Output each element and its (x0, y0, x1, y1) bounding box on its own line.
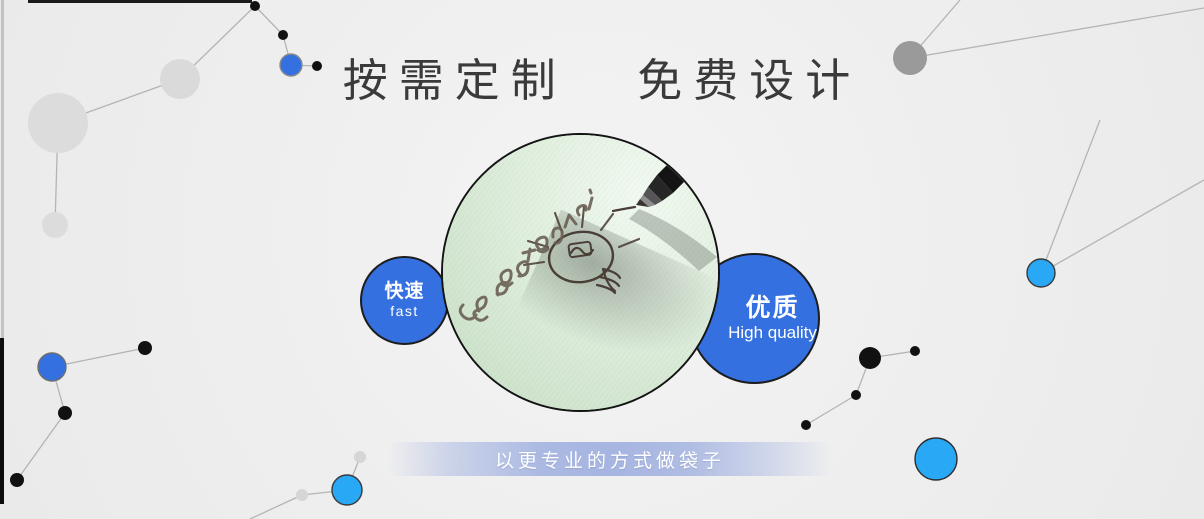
network-edge (17, 413, 65, 480)
node-black-right-a (859, 347, 881, 369)
network-edge (806, 395, 856, 425)
node-gray-small-left (42, 212, 68, 238)
page-title: 按需定制 免费设计 (0, 44, 1204, 109)
bubble-quality-cn: 优质 (745, 295, 799, 321)
node-black-left-b (58, 406, 72, 420)
node-gray-bottom-b (354, 451, 366, 463)
creative-sketch (443, 135, 718, 410)
node-black-right-d (801, 420, 811, 430)
top-edge-bar (28, 0, 252, 3)
node-black-top-b (278, 30, 288, 40)
bubble-fast-en: fast (390, 303, 419, 319)
bubble-quality-en: High quality (728, 323, 817, 343)
node-black-left-a (138, 341, 152, 355)
node-blue-left (38, 353, 66, 381)
slogan-text: 以更专业的方式做袋子 (495, 446, 725, 473)
network-edge (255, 6, 283, 35)
node-cyan-bottom-right (915, 438, 957, 480)
left-edge-rail (1, 0, 4, 340)
bubble-fast-cn: 快速 (384, 282, 424, 302)
network-edge (1041, 180, 1204, 273)
node-gray-bottom-a (296, 489, 308, 501)
creative-photo-circle (441, 133, 720, 412)
node-black-right-b (910, 346, 920, 356)
node-cyan-right (1027, 259, 1055, 287)
node-black-right-c (851, 390, 861, 400)
network-edge (250, 495, 302, 519)
feature-bubble-fast[interactable]: 快速 fast (360, 256, 449, 345)
slogan-banner: 以更专业的方式做袋子 (388, 442, 832, 476)
left-edge-bar (0, 338, 4, 504)
node-cyan-bottom (332, 475, 362, 505)
network-edge (1041, 120, 1100, 273)
node-black-left-c (10, 473, 24, 487)
promo-banner: 按需定制 免费设计 优质 High quality 快速 fast (0, 0, 1204, 519)
